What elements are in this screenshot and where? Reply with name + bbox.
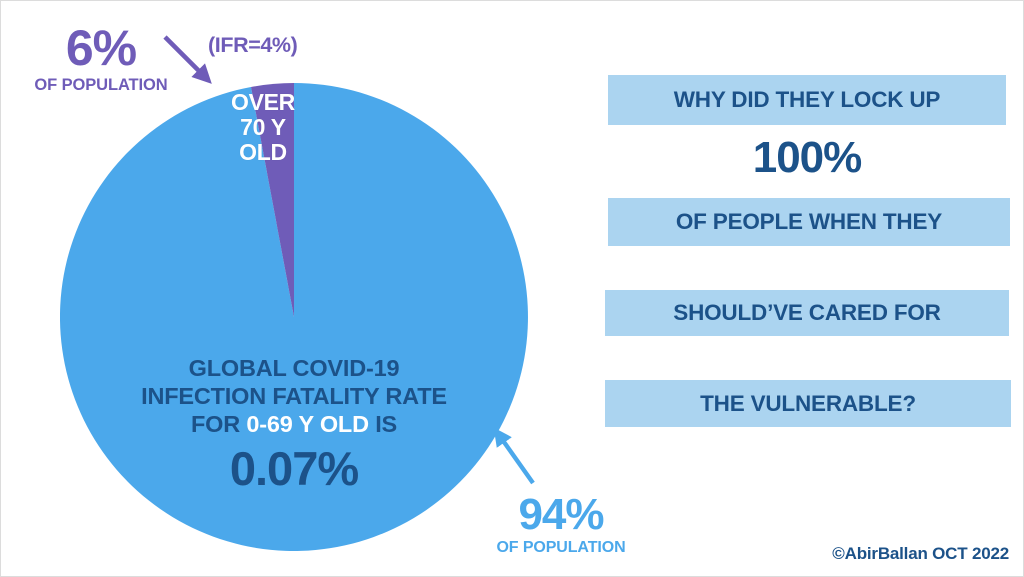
callout-94-percent-sublabel: OF POPULATION bbox=[461, 538, 661, 557]
pie-slice-label-over-70: OVER 70 Y OLD bbox=[217, 90, 309, 165]
message-line-1-text: WHY DID THEY LOCK UP bbox=[674, 87, 940, 113]
message-line-2-text: OF PEOPLE WHEN THEY bbox=[676, 209, 942, 235]
callout-94-percent: 94% OF POPULATION bbox=[461, 491, 661, 557]
message-box-line-4: THE VULNERABLE? bbox=[605, 380, 1011, 427]
pie-center-ifr-value: 0.07% bbox=[84, 442, 504, 496]
credit-line: ©AbirBallan OCT 2022 bbox=[832, 544, 1009, 564]
callout-94-percent-value: 94% bbox=[461, 491, 661, 539]
pie-center-line-3-suffix: IS bbox=[369, 411, 397, 437]
message-box-line-1: WHY DID THEY LOCK UP bbox=[608, 75, 1006, 125]
infographic-canvas: OVER 70 Y OLD GLOBAL COVID-19 INFECTION … bbox=[0, 0, 1024, 577]
arrow-icon-blue bbox=[491, 421, 551, 491]
pie-center-line-2: INFECTION FATALITY RATE bbox=[84, 382, 504, 410]
message-line-4-text: THE VULNERABLE? bbox=[700, 391, 916, 417]
pie-center-line-3-highlight: 0-69 Y OLD bbox=[246, 411, 369, 437]
pie-center-text-block: GLOBAL COVID-19 INFECTION FATALITY RATE … bbox=[84, 354, 504, 496]
arrow-icon-purple bbox=[161, 31, 223, 93]
pie-center-line-1: GLOBAL COVID-19 bbox=[84, 354, 504, 382]
pie-center-line-3-prefix: FOR bbox=[191, 411, 246, 437]
pie-chart: OVER 70 Y OLD GLOBAL COVID-19 INFECTION … bbox=[60, 83, 528, 551]
message-highlight-100-percent: 100% bbox=[608, 132, 1006, 184]
message-box-line-3: SHOULD’VE CARED FOR bbox=[605, 290, 1009, 336]
message-line-3-text: SHOULD’VE CARED FOR bbox=[673, 300, 940, 326]
pie-center-line-3: FOR 0-69 Y OLD IS bbox=[84, 410, 504, 438]
message-box-line-2: OF PEOPLE WHEN THEY bbox=[608, 198, 1010, 246]
